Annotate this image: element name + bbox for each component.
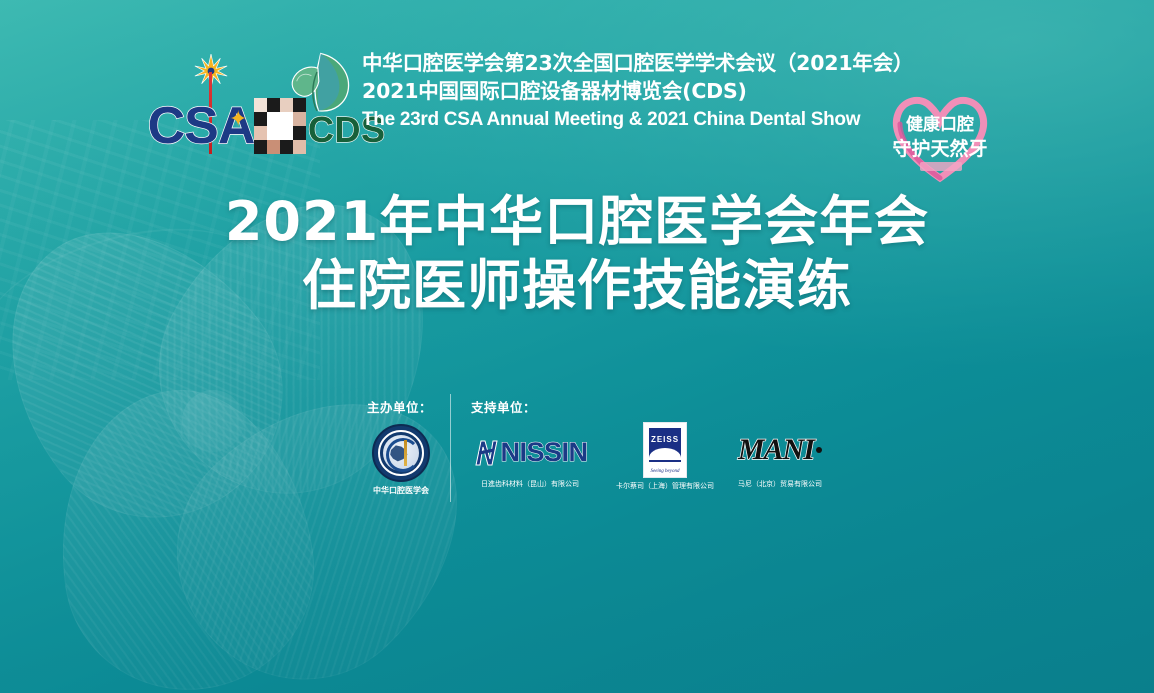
nissin-logo-icon: NISSIN	[465, 428, 595, 476]
organizer-label: 主办单位：	[367, 397, 432, 416]
zeiss-logo-icon: ZEISS Seeing beyond	[643, 422, 687, 478]
banner-header: CSA ✦ CDS 中华口腔医学会第23次全国口腔医学学术会议（2021年会）	[0, 38, 1154, 166]
nissin-mark-icon	[472, 437, 498, 467]
csa-emblem-icon	[372, 424, 430, 482]
supporter-logo-zeiss: ZEISS Seeing beyond 卡尔蔡司（上海）管理有限公司	[610, 422, 720, 491]
supporter-logo-nissin: NISSIN 日進齿科材料（昆山）有限公司	[465, 428, 595, 489]
section-divider	[450, 394, 451, 502]
cds-logo: CDS	[252, 50, 364, 158]
asclepius-rod-icon	[404, 440, 407, 466]
building-hub	[182, 390, 244, 452]
page-title-line-1: 2021年中华口腔医学会年会	[0, 190, 1154, 254]
plus-icon: ✦	[229, 108, 247, 130]
mani-caption: 马尼（北京）贸易有限公司	[725, 481, 835, 489]
conference-title-en: The 23rd CSA Annual Meeting & 2021 China…	[362, 106, 882, 135]
zeiss-tagline: Seeing beyond	[644, 469, 686, 474]
page-title: 2021年中华口腔医学会年会 住院医师操作技能演练	[0, 190, 1154, 317]
slogan-line-1: 健康口腔	[906, 114, 974, 135]
mani-dot-icon	[816, 447, 822, 453]
building-petal	[40, 374, 329, 693]
mani-logo-icon: MANI	[725, 424, 835, 476]
conference-title-cn-2: 2021中国国际口腔设备器材博览会(CDS)	[362, 77, 882, 105]
pink-heart-icon: 健康口腔 守护天然牙	[884, 82, 996, 186]
healthy-mouth-slogan-logo: 健康口腔 守护天然牙	[884, 82, 996, 186]
zeiss-wordmark: ZEISS	[644, 435, 686, 444]
checker-square-icon	[254, 98, 306, 154]
zeiss-caption: 卡尔蔡司（上海）管理有限公司	[610, 483, 720, 491]
conference-title-cn-1: 中华口腔医学会第23次全国口腔医学学术会议（2021年会）	[362, 50, 882, 77]
event-banner: CSA ✦ CDS 中华口腔医学会第23次全国口腔医学学术会议（2021年会）	[0, 0, 1154, 693]
supporter-logo-mani: MANI 马尼（北京）贸易有限公司	[725, 424, 835, 489]
nissin-caption: 日進齿科材料（昆山）有限公司	[465, 481, 595, 489]
page-title-line-2: 住院医师操作技能演练	[0, 254, 1154, 318]
mani-wordmark: MANI	[738, 433, 814, 467]
organizer-logo: 中华口腔医学会	[355, 424, 447, 496]
supporter-label: 支持单位：	[471, 397, 536, 416]
conference-title-block: 中华口腔医学会第23次全国口腔医学学术会议（2021年会） 2021中国国际口腔…	[362, 50, 882, 135]
slogan-line-2: 守护天然牙	[892, 137, 987, 160]
sponsor-section: 主办单位： 支持单位： 中华口腔医学会 NISSIN 日進齿科材料（昆山	[355, 392, 825, 517]
nissin-wordmark: NISSIN	[500, 437, 587, 468]
organizer-caption: 中华口腔医学会	[355, 487, 447, 496]
csa-logo: CSA ✦	[146, 56, 256, 156]
